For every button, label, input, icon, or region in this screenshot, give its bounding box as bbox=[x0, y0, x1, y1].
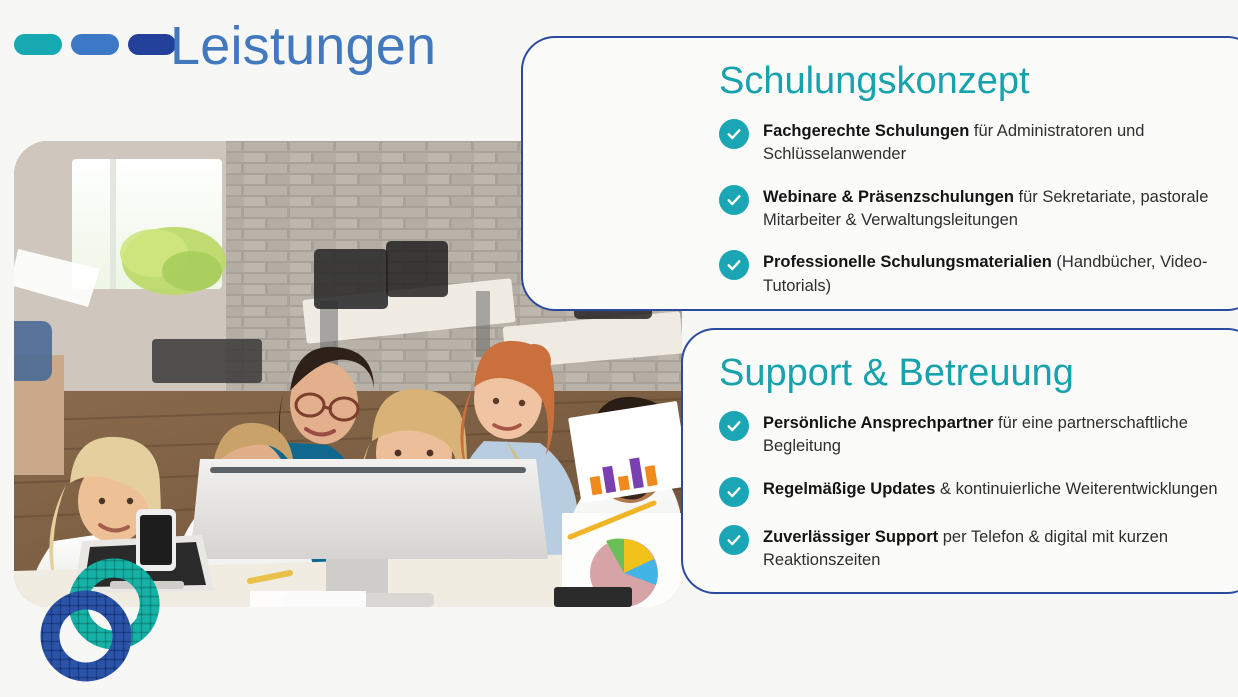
list-item-strong: Fachgerechte Schulungen bbox=[763, 122, 969, 140]
card-schulungskonzept: Schulungskonzept Fachgerechte Schulungen… bbox=[521, 36, 1238, 311]
list-item: Fachgerechte Schulungen für Administrato… bbox=[719, 118, 1229, 167]
list-item: Webinare & Präsenzschulungen für Sekreta… bbox=[719, 184, 1229, 233]
pill-teal-icon bbox=[14, 34, 62, 55]
list-item-strong: Professionelle Schulungsmaterialien bbox=[763, 253, 1052, 271]
list-item-strong: Webinare & Präsenzschulungen bbox=[763, 188, 1014, 206]
list-item: Zuverlässiger Support per Telefon & digi… bbox=[719, 524, 1238, 573]
list-item: Professionelle Schulungsmaterialien (Han… bbox=[719, 249, 1229, 298]
check-circle-icon bbox=[719, 185, 749, 215]
card-1-bullet-list: Fachgerechte Schulungen für Administrato… bbox=[719, 118, 1229, 299]
list-item-strong: Persönliche Ansprechpartner bbox=[763, 414, 993, 432]
slide-leistungen: Leistungen bbox=[0, 0, 1238, 697]
list-item-strong: Regelmäßige Updates bbox=[763, 480, 935, 498]
list-item-text: Professionelle Schulungsmaterialien (Han… bbox=[763, 249, 1229, 298]
list-item-text: Regelmäßige Updates & kontinuierliche We… bbox=[763, 476, 1218, 501]
card-2-heading: Support & Betreuung bbox=[719, 352, 1238, 396]
check-circle-icon bbox=[719, 411, 749, 441]
list-item-strong: Zuverlässiger Support bbox=[763, 528, 938, 546]
pill-blue-icon bbox=[71, 34, 119, 55]
list-item-text: Webinare & Präsenzschulungen für Sekreta… bbox=[763, 184, 1229, 233]
card-1-heading: Schulungskonzept bbox=[719, 60, 1229, 104]
list-item-text: Persönliche Ansprechpartner für eine par… bbox=[763, 410, 1238, 459]
list-item: Persönliche Ansprechpartner für eine par… bbox=[719, 410, 1238, 459]
check-circle-icon bbox=[719, 250, 749, 280]
card-2-bullet-list: Persönliche Ansprechpartner für eine par… bbox=[719, 410, 1238, 573]
check-circle-icon bbox=[719, 525, 749, 555]
check-circle-icon bbox=[719, 477, 749, 507]
list-item: Regelmäßige Updates & kontinuierliche We… bbox=[719, 476, 1238, 507]
list-item-text: Fachgerechte Schulungen für Administrato… bbox=[763, 118, 1229, 167]
company-logo bbox=[38, 556, 166, 684]
list-item-text: Zuverlässiger Support per Telefon & digi… bbox=[763, 524, 1238, 573]
check-circle-icon bbox=[719, 119, 749, 149]
list-item-rest: & kontinuierliche Weiterentwicklungen bbox=[935, 480, 1217, 498]
header-pill-group bbox=[14, 34, 176, 55]
page-title: Leistungen bbox=[170, 14, 436, 79]
pill-navy-icon bbox=[128, 34, 176, 55]
card-support-betreuung: Support & Betreuung Persönliche Ansprech… bbox=[681, 328, 1238, 594]
